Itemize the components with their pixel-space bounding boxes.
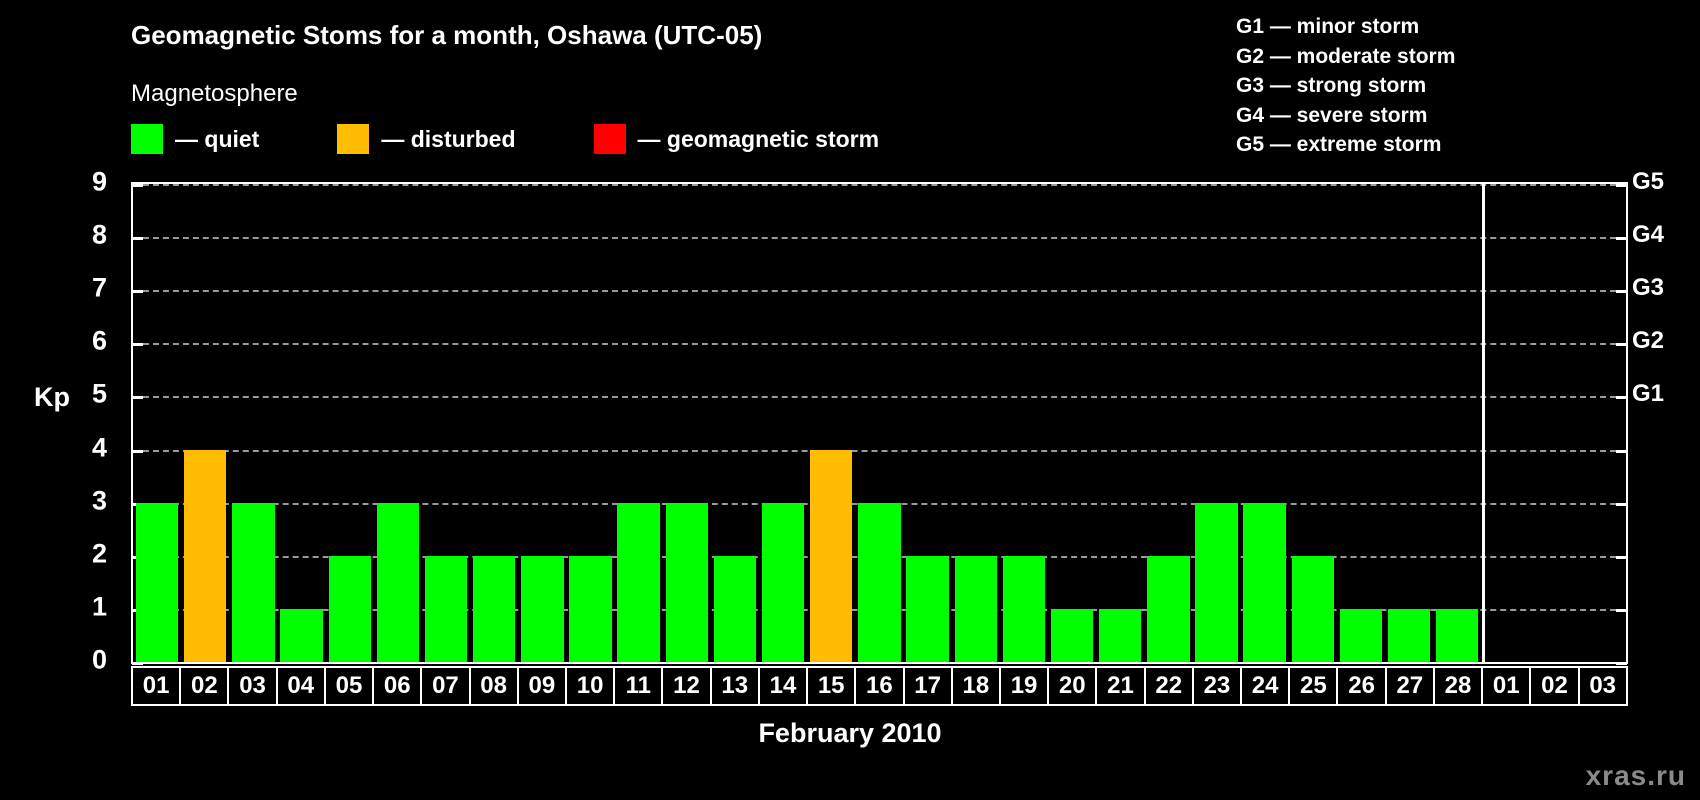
bar-cell-25-24[interactable] — [1289, 184, 1337, 662]
bar-cell-03-30[interactable] — [1578, 184, 1626, 662]
y-tick-label-7: 7 — [92, 273, 107, 304]
g-axis-label-G4: G4 — [1632, 221, 1664, 249]
bar-cell-19-18[interactable] — [1000, 184, 1048, 662]
x-axis-day-labels: 0102030405060708091011121314151617181920… — [131, 666, 1628, 706]
legend-label: — disturbed — [381, 126, 515, 153]
legend-label: — quiet — [175, 126, 259, 153]
bar-cell-02-1[interactable] — [181, 184, 229, 662]
g-axis-label-G3: G3 — [1632, 274, 1664, 302]
x-axis-day-26-25[interactable]: 26 — [1338, 668, 1386, 704]
y-tick-mark-0 — [132, 662, 143, 665]
legend-entry-2: — geomagnetic storm — [594, 124, 880, 154]
x-axis-day-12-11[interactable]: 12 — [663, 668, 711, 704]
bar-cell-12-11[interactable] — [663, 184, 711, 662]
bar-cell-04-3[interactable] — [277, 184, 325, 662]
bar-day-01[interactable] — [136, 503, 178, 662]
x-axis-day-20-19[interactable]: 20 — [1049, 668, 1097, 704]
x-axis-day-11-10[interactable]: 11 — [615, 668, 663, 704]
gscale-legend: G1 — minor stormG2 — moderate stormG3 — … — [1236, 12, 1455, 160]
x-axis-day-05-4[interactable]: 05 — [326, 668, 374, 704]
bar-day-04[interactable] — [280, 609, 322, 662]
y-tick-label-2: 2 — [92, 538, 107, 569]
bar-cell-26-25[interactable] — [1337, 184, 1385, 662]
bar-day-05[interactable] — [329, 556, 371, 662]
bar-cell-01-28[interactable] — [1481, 184, 1529, 662]
color-swatch-orange — [337, 124, 369, 154]
bar-cell-02-29[interactable] — [1530, 184, 1578, 662]
bar-day-03[interactable] — [232, 503, 274, 662]
bar-day-22[interactable] — [1147, 556, 1189, 662]
bar-cell-11-10[interactable] — [615, 184, 663, 662]
x-axis-day-18-17[interactable]: 18 — [953, 668, 1001, 704]
bar-cell-03-2[interactable] — [229, 184, 277, 662]
bar-cell-18-17[interactable] — [952, 184, 1000, 662]
x-axis-day-03-30[interactable]: 03 — [1580, 668, 1626, 704]
y-tick-label-8: 8 — [92, 220, 107, 251]
gscale-legend-row-4: G4 — severe storm — [1236, 101, 1455, 131]
g-axis-label-G5: G5 — [1632, 168, 1664, 196]
bar-day-21[interactable] — [1099, 609, 1141, 662]
bar-day-08[interactable] — [473, 556, 515, 662]
x-axis-day-01-28[interactable]: 01 — [1483, 668, 1531, 704]
bar-cell-22-21[interactable] — [1144, 184, 1192, 662]
x-axis-day-01-0[interactable]: 01 — [133, 668, 181, 704]
x-axis-day-24-23[interactable]: 24 — [1242, 668, 1290, 704]
legend-entry-0: — quiet — [131, 124, 259, 154]
color-swatch-red — [594, 124, 626, 154]
x-axis-day-21-20[interactable]: 21 — [1097, 668, 1145, 704]
bar-cell-10-9[interactable] — [566, 184, 614, 662]
y-tick-label-3: 3 — [92, 485, 107, 516]
magnetosphere-legend: — quiet— disturbed— geomagnetic storm — [131, 123, 879, 155]
x-axis-day-19-18[interactable]: 19 — [1001, 668, 1049, 704]
bar-day-07[interactable] — [425, 556, 467, 662]
x-axis-day-22-21[interactable]: 22 — [1146, 668, 1194, 704]
bar-cell-20-19[interactable] — [1048, 184, 1096, 662]
bar-cell-07-6[interactable] — [422, 184, 470, 662]
bar-cell-28-27[interactable] — [1433, 184, 1481, 662]
x-axis-day-23-22[interactable]: 23 — [1194, 668, 1242, 704]
gscale-legend-row-1: G1 — minor storm — [1236, 12, 1455, 42]
color-swatch-green — [131, 124, 163, 154]
bar-day-28[interactable] — [1436, 609, 1478, 662]
x-axis-day-16-15[interactable]: 16 — [856, 668, 904, 704]
bar-cell-16-15[interactable] — [855, 184, 903, 662]
bar-day-20[interactable] — [1051, 609, 1093, 662]
bar-cell-01-0[interactable] — [133, 184, 181, 662]
bar-day-24[interactable] — [1243, 503, 1285, 662]
magnetosphere-heading: Magnetosphere — [131, 80, 298, 108]
x-axis-day-09-8[interactable]: 09 — [519, 668, 567, 704]
legend-entry-1: — disturbed — [337, 124, 515, 154]
bar-day-17[interactable] — [906, 556, 948, 662]
bars-container — [133, 184, 1626, 662]
bar-day-26[interactable] — [1340, 609, 1382, 662]
legend-label: — geomagnetic storm — [638, 126, 880, 153]
bar-day-02[interactable] — [184, 450, 226, 662]
x-axis-day-27-26[interactable]: 27 — [1387, 668, 1435, 704]
y-tick-mark-right-0 — [1616, 662, 1627, 665]
bar-cell-17-16[interactable] — [904, 184, 952, 662]
y-tick-label-4: 4 — [92, 432, 107, 463]
bar-day-23[interactable] — [1195, 503, 1237, 662]
x-axis-day-02-29[interactable]: 02 — [1531, 668, 1579, 704]
bar-cell-15-14[interactable] — [807, 184, 855, 662]
bar-cell-27-26[interactable] — [1385, 184, 1433, 662]
gscale-legend-row-5: G5 — extreme storm — [1236, 130, 1455, 160]
y-tick-label-5: 5 — [92, 379, 107, 410]
bar-day-13[interactable] — [714, 556, 756, 662]
page-title: Geomagnetic Stoms for a month, Oshawa (U… — [131, 20, 762, 51]
x-axis-day-10-9[interactable]: 10 — [567, 668, 615, 704]
bar-day-09[interactable] — [521, 556, 563, 662]
y-axis-labels: 0123456789 — [0, 182, 125, 664]
bar-cell-21-20[interactable] — [1096, 184, 1144, 662]
gscale-legend-row-2: G2 — moderate storm — [1236, 42, 1455, 72]
y-tick-label-9: 9 — [92, 167, 107, 198]
x-axis-title: February 2010 — [0, 718, 1700, 749]
x-axis-day-25-24[interactable]: 25 — [1290, 668, 1338, 704]
bar-cell-08-7[interactable] — [470, 184, 518, 662]
bar-day-15[interactable] — [810, 450, 852, 662]
x-axis-day-03-2[interactable]: 03 — [229, 668, 277, 704]
bar-day-18[interactable] — [955, 556, 997, 662]
month-divider-line — [1482, 184, 1485, 662]
y-tick-label-0: 0 — [92, 645, 107, 676]
bar-day-06[interactable] — [377, 503, 419, 662]
bar-cell-24-23[interactable] — [1241, 184, 1289, 662]
bar-day-10[interactable] — [569, 556, 611, 662]
watermark: xras.ru — [1586, 760, 1686, 792]
bar-cell-23-22[interactable] — [1192, 184, 1240, 662]
x-axis-day-17-16[interactable]: 17 — [905, 668, 953, 704]
bar-day-27[interactable] — [1388, 609, 1430, 662]
x-axis-day-14-13[interactable]: 14 — [760, 668, 808, 704]
y-axis-title: Kp — [34, 382, 70, 413]
bar-day-16[interactable] — [858, 503, 900, 662]
bar-cell-09-8[interactable] — [518, 184, 566, 662]
g-axis-label-G2: G2 — [1632, 327, 1664, 355]
bar-day-14[interactable] — [762, 503, 804, 662]
bar-day-19[interactable] — [1003, 556, 1045, 662]
x-axis-day-04-3[interactable]: 04 — [278, 668, 326, 704]
y-tick-label-1: 1 — [92, 591, 107, 622]
bar-cell-13-12[interactable] — [711, 184, 759, 662]
x-axis-day-02-1[interactable]: 02 — [181, 668, 229, 704]
bar-day-11[interactable] — [617, 503, 659, 662]
x-axis-day-06-5[interactable]: 06 — [374, 668, 422, 704]
x-axis-day-15-14[interactable]: 15 — [808, 668, 856, 704]
plot-area — [131, 182, 1628, 664]
bar-cell-06-5[interactable] — [374, 184, 422, 662]
bar-cell-14-13[interactable] — [759, 184, 807, 662]
x-axis-day-08-7[interactable]: 08 — [471, 668, 519, 704]
x-axis-day-13-12[interactable]: 13 — [712, 668, 760, 704]
bar-day-12[interactable] — [666, 503, 708, 662]
g-scale-axis-labels: G1G2G3G4G5 — [1632, 182, 1700, 664]
gscale-legend-row-3: G3 — strong storm — [1236, 71, 1455, 101]
g-axis-label-G1: G1 — [1632, 380, 1664, 408]
y-tick-label-6: 6 — [92, 326, 107, 357]
bar-day-25[interactable] — [1292, 556, 1334, 662]
x-axis-day-07-6[interactable]: 07 — [422, 668, 470, 704]
bar-cell-05-4[interactable] — [326, 184, 374, 662]
x-axis-day-28-27[interactable]: 28 — [1435, 668, 1483, 704]
